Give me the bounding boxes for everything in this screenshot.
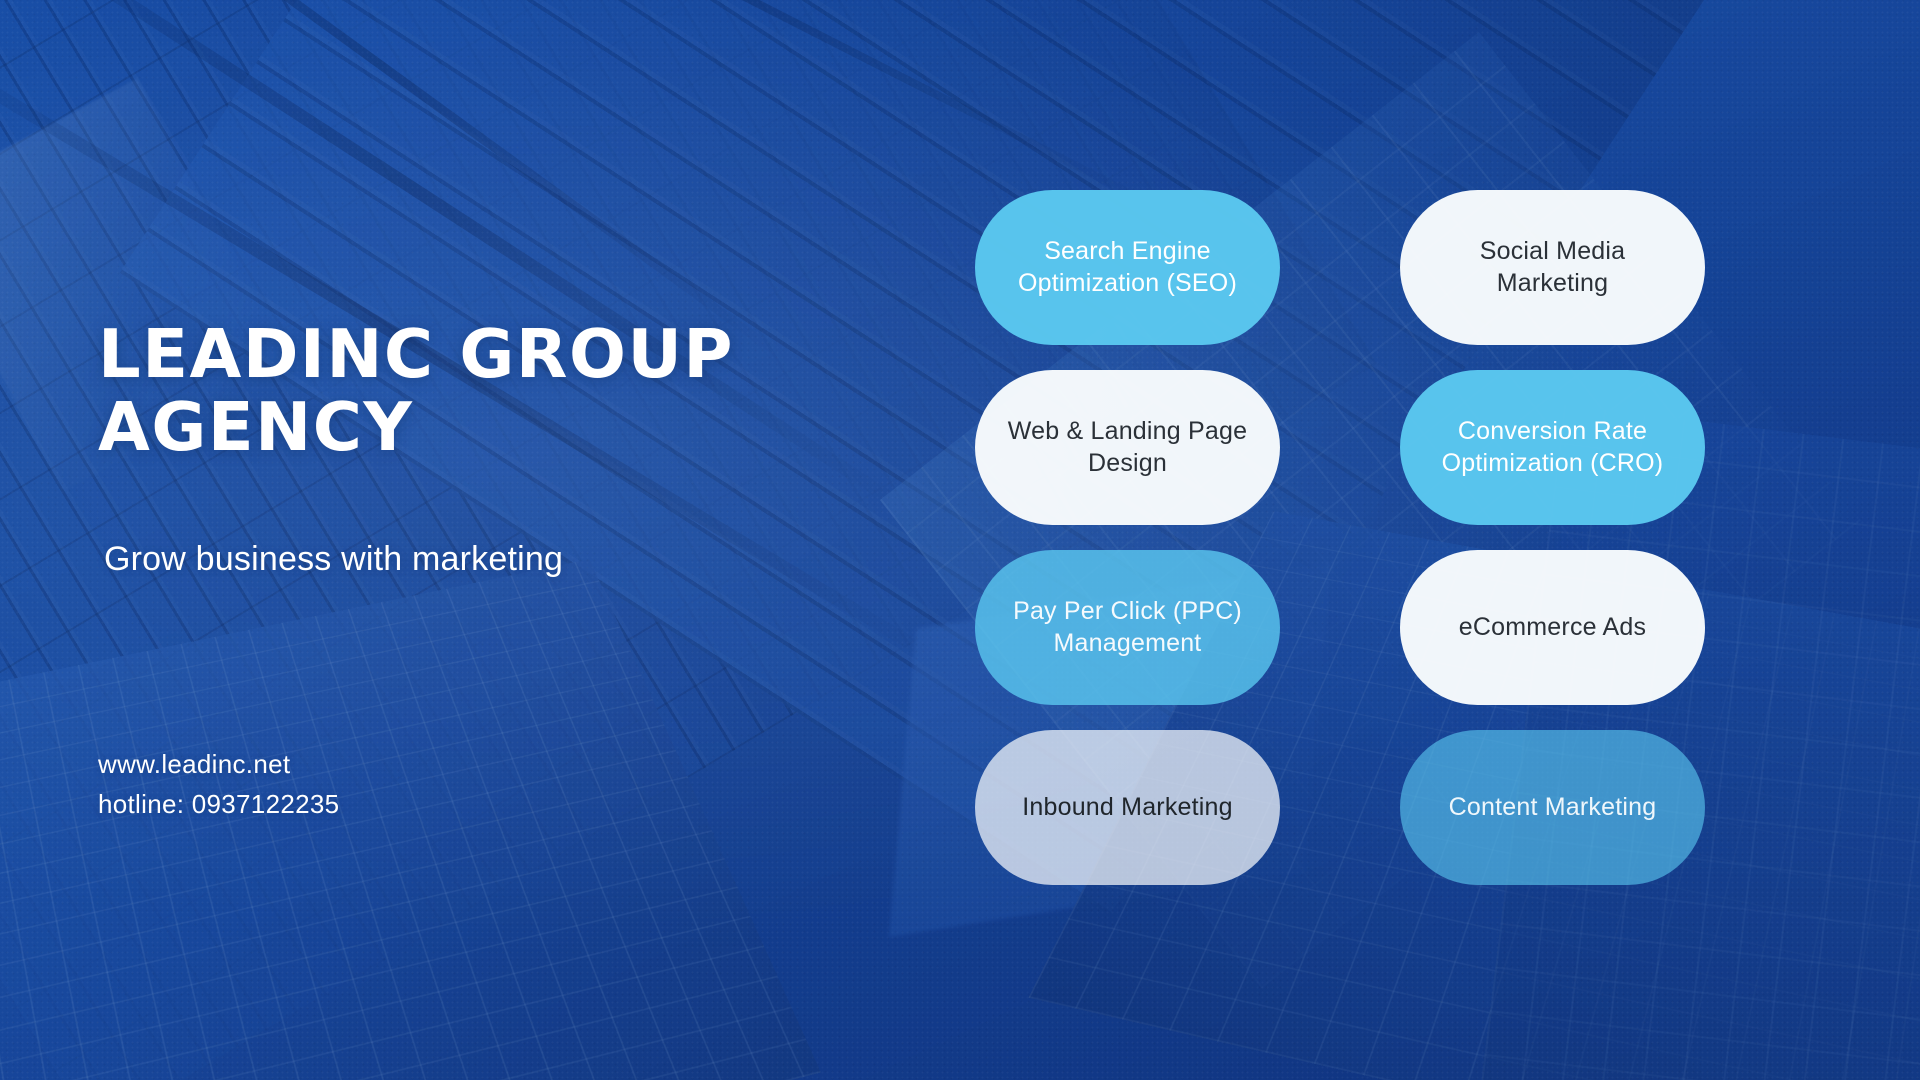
service-pill-ppc-management[interactable]: Pay Per Click (PPC) Management: [975, 550, 1280, 705]
website-link[interactable]: www.leadinc.net: [98, 745, 339, 785]
service-label: Web & Landing Page Design: [997, 416, 1258, 479]
contact-block: www.leadinc.net hotline: 0937122235: [98, 745, 339, 824]
service-pill-inbound-marketing[interactable]: Inbound Marketing: [975, 730, 1280, 885]
page-title: LEADINC GROUP AGENCY: [98, 318, 798, 464]
services-grid: Search Engine Optimization (SEO) Social …: [975, 190, 1705, 890]
service-pill-content-marketing[interactable]: Content Marketing: [1400, 730, 1705, 885]
service-label: Conversion Rate Optimization (CRO): [1422, 416, 1683, 479]
service-label: Inbound Marketing: [1022, 792, 1232, 824]
hotline-text[interactable]: hotline: 0937122235: [98, 785, 339, 825]
marketing-banner: LEADINC GROUP AGENCY Grow business with …: [0, 0, 1920, 1080]
service-label: Pay Per Click (PPC) Management: [997, 596, 1258, 659]
service-pill-web-landing-page-design[interactable]: Web & Landing Page Design: [975, 370, 1280, 525]
service-pill-seo[interactable]: Search Engine Optimization (SEO): [975, 190, 1280, 345]
service-label: Search Engine Optimization (SEO): [997, 236, 1258, 299]
tagline: Grow business with marketing: [104, 540, 804, 579]
service-label: eCommerce Ads: [1459, 612, 1646, 644]
service-pill-cro[interactable]: Conversion Rate Optimization (CRO): [1400, 370, 1705, 525]
service-pill-social-media-marketing[interactable]: Social Media Marketing: [1400, 190, 1705, 345]
service-label: Social Media Marketing: [1422, 236, 1683, 299]
service-pill-ecommerce-ads[interactable]: eCommerce Ads: [1400, 550, 1705, 705]
brand-column: LEADINC GROUP AGENCY Grow business with …: [98, 0, 798, 1080]
service-label: Content Marketing: [1449, 792, 1657, 824]
